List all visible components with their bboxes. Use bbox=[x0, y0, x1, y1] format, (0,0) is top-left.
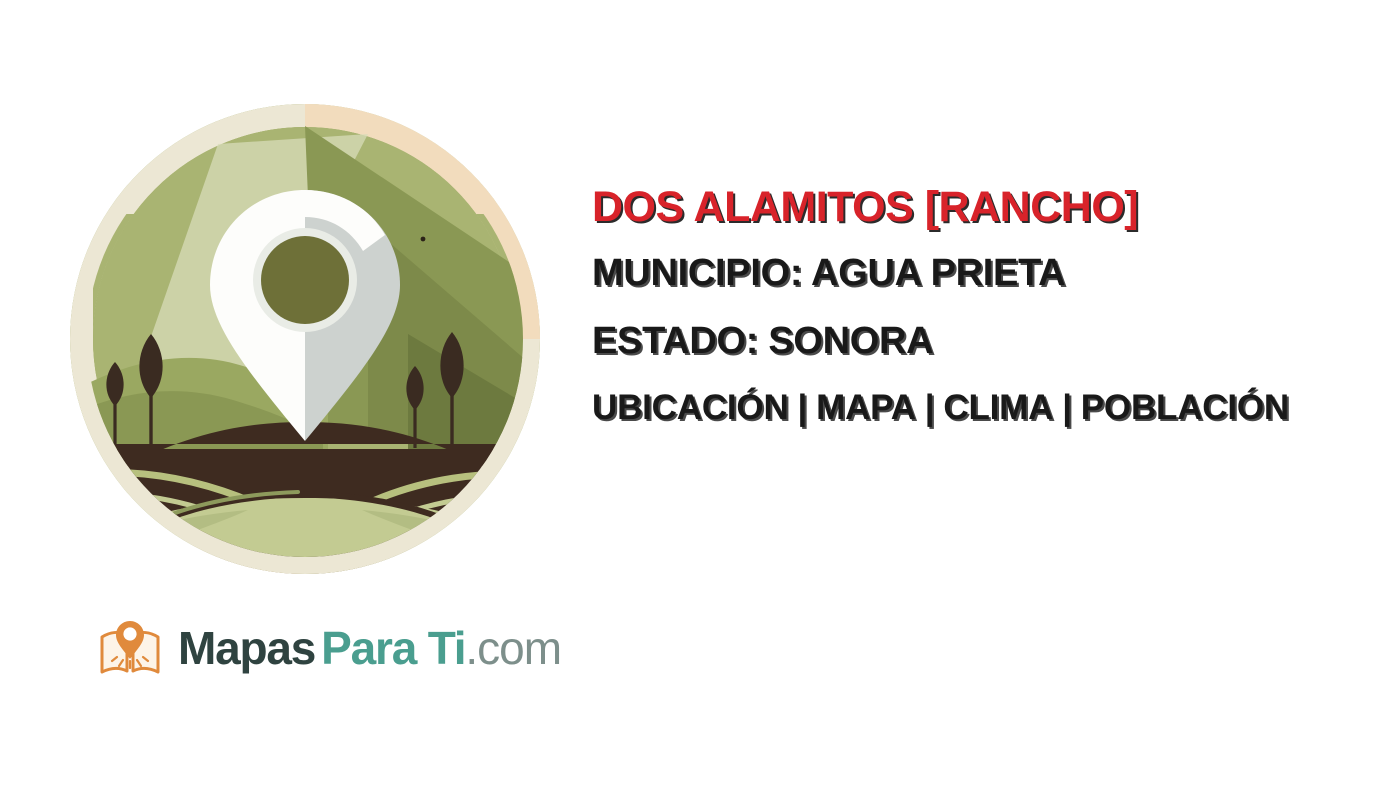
tree-trunk bbox=[113, 402, 116, 444]
nav-separator: | bbox=[1053, 390, 1081, 425]
nav-separator: | bbox=[916, 390, 944, 425]
wordmark-mapas: Mapas bbox=[178, 625, 315, 671]
nav-item-mapa[interactable]: MAPA bbox=[816, 390, 916, 425]
wordmark-parati: Para Ti bbox=[321, 625, 465, 671]
hero-illustration bbox=[68, 104, 542, 574]
tree-trunk bbox=[450, 392, 453, 448]
circular-landscape-map-pin-illustration bbox=[68, 104, 542, 574]
nav-item-clima[interactable]: CLIMA bbox=[943, 390, 1053, 425]
badge-scene bbox=[68, 114, 542, 574]
section-nav: UBICACIÓN | MAPA | CLIMA | POBLACIÓN bbox=[592, 390, 1382, 425]
municipio-line: MUNICIPIO: AGUA PRIETA bbox=[592, 254, 1382, 292]
page-title: DOS ALAMITOS [RANCHO] bbox=[592, 186, 1382, 229]
open-book-map-pin-icon bbox=[98, 617, 162, 679]
tree-trunk bbox=[149, 392, 152, 447]
nav-item-ubicacion[interactable]: UBICACIÓN bbox=[592, 390, 789, 425]
pin-center-dot bbox=[261, 236, 349, 324]
nav-separator: | bbox=[789, 390, 817, 425]
info-panel: DOS ALAMITOS [RANCHO] MUNICIPIO: AGUA PR… bbox=[592, 186, 1382, 425]
pin-hole bbox=[123, 627, 136, 640]
estado-line: ESTADO: SONORA bbox=[592, 322, 1382, 360]
page-root: DOS ALAMITOS [RANCHO] MUNICIPIO: AGUA PR… bbox=[0, 0, 1400, 786]
nav-item-poblacion[interactable]: POBLACIÓN bbox=[1081, 390, 1289, 425]
brand-lockup[interactable]: Mapas Para Ti .com bbox=[98, 617, 561, 679]
wordmark-com: .com bbox=[465, 625, 561, 671]
brand-wordmark: Mapas Para Ti .com bbox=[178, 625, 561, 671]
bird-speck bbox=[421, 237, 426, 242]
